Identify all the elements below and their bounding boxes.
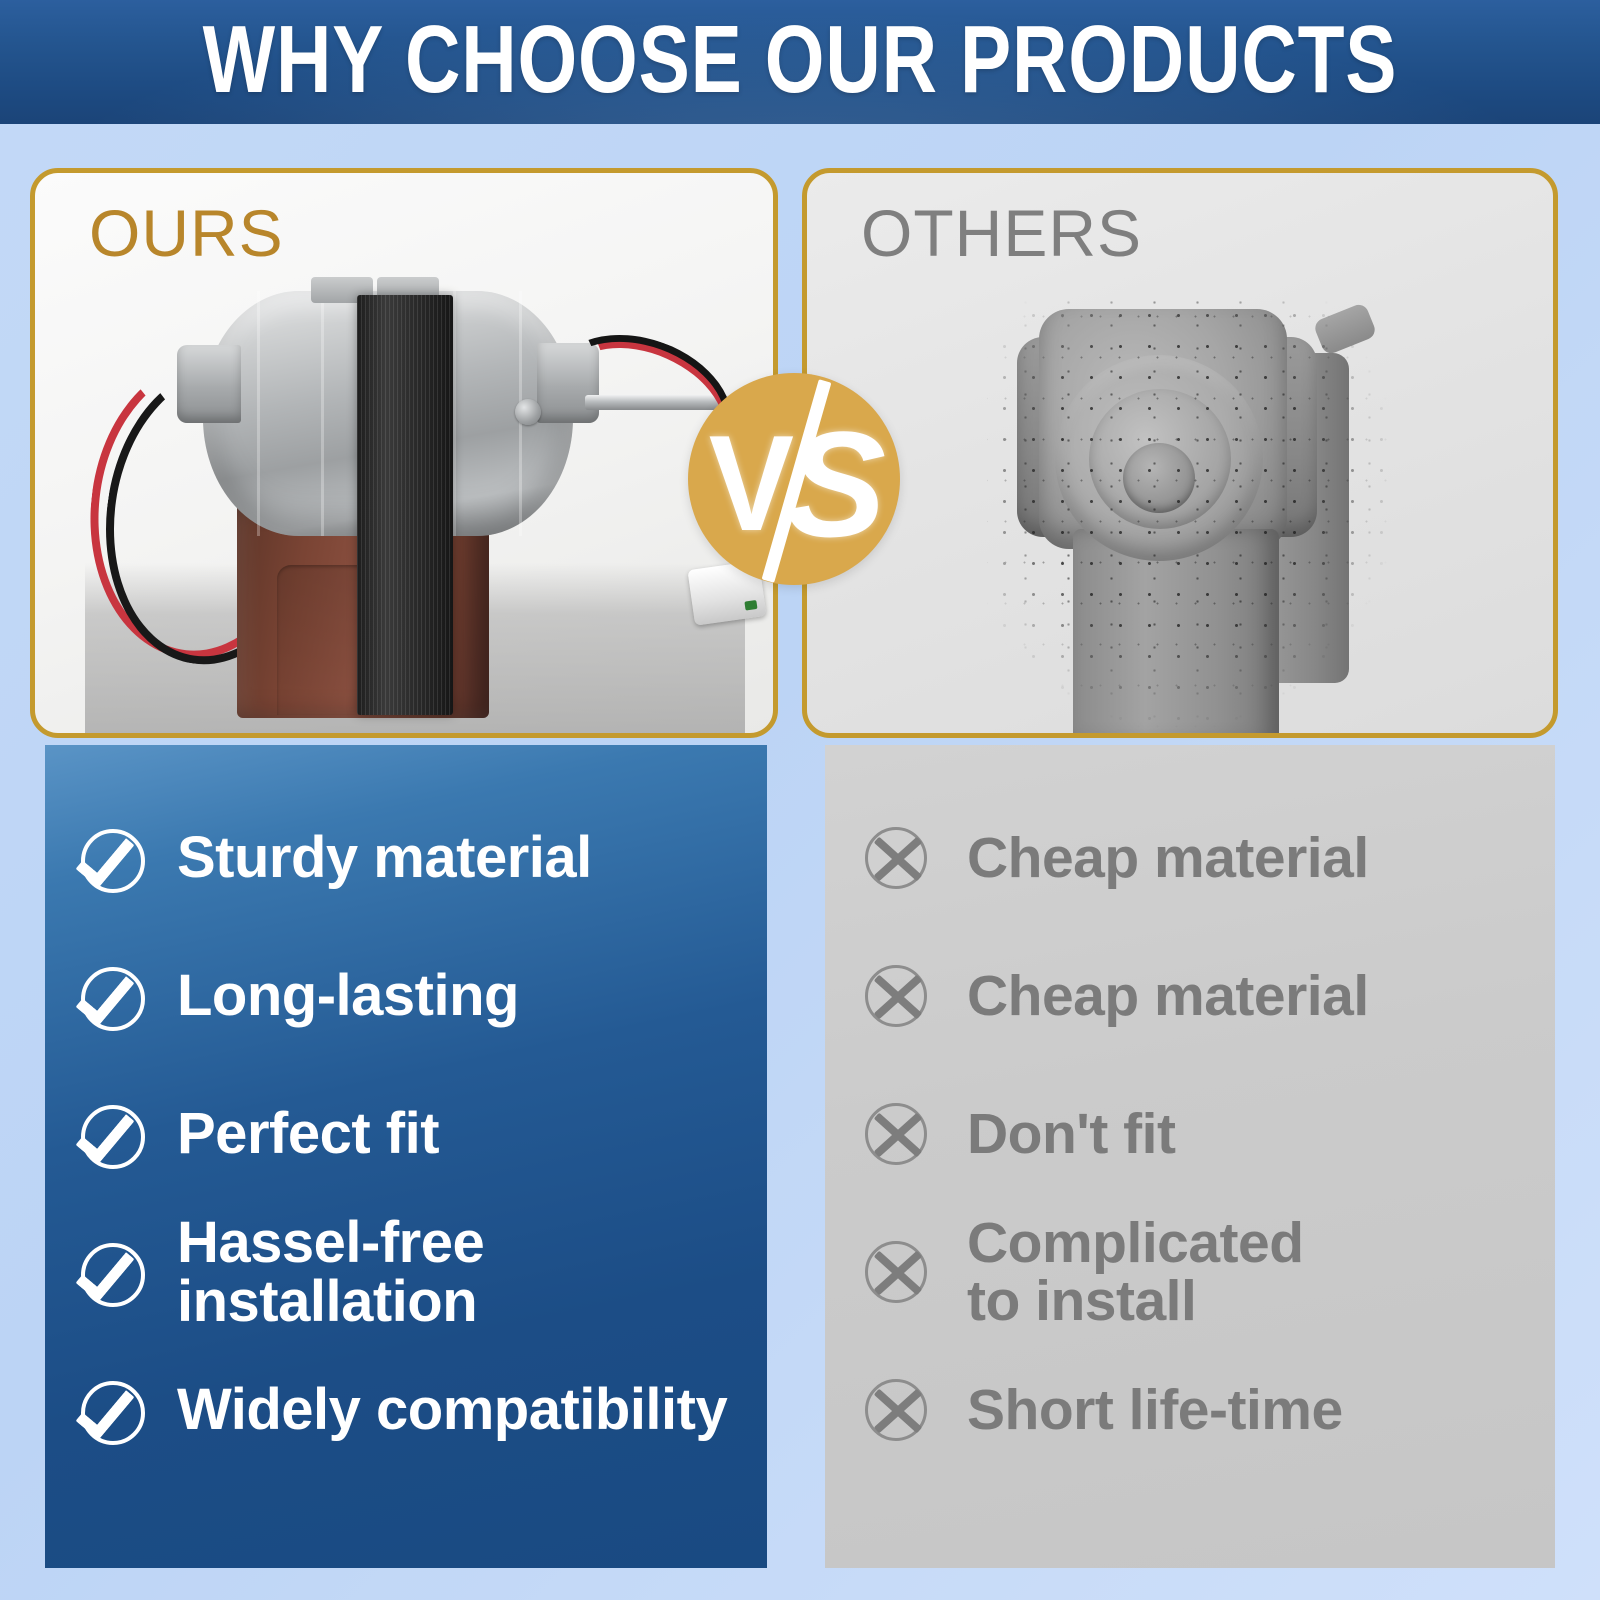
x-circle-icon — [859, 821, 933, 895]
list-item: Perfect fit — [45, 1065, 767, 1203]
header-banner: WHY CHOOSE OUR PRODUCTS — [0, 0, 1600, 124]
x-circle-icon — [859, 1235, 933, 1309]
x-circle-icon — [859, 959, 933, 1033]
drawback-label: Complicated to install — [967, 1214, 1304, 1330]
drawback-label: Short life-time — [967, 1381, 1343, 1439]
ours-label: OURS — [89, 195, 284, 271]
vs-badge: V S — [688, 373, 900, 585]
others-product-image — [987, 293, 1417, 738]
check-circle-icon — [77, 1373, 151, 1447]
feature-label: Sturdy material — [177, 828, 592, 887]
list-item: Complicated to install — [825, 1203, 1555, 1341]
check-circle-icon — [77, 821, 151, 895]
drawback-label: Cheap material — [967, 967, 1369, 1025]
others-label: OTHERS — [861, 195, 1142, 271]
page-title: WHY CHOOSE OUR PRODUCTS — [160, 5, 1440, 115]
ours-feature-panel: Sturdy material Long-lasting Perfect fit… — [45, 745, 767, 1568]
motor-hub — [1123, 443, 1195, 513]
feature-label: Widely compatibility — [177, 1380, 727, 1439]
feature-label: Perfect fit — [177, 1104, 439, 1163]
list-item: Hassel-free installation — [45, 1203, 767, 1341]
list-item: Cheap material — [825, 927, 1555, 1065]
others-photo-card: OTHERS — [802, 168, 1558, 738]
list-item: Short life-time — [825, 1341, 1555, 1479]
ours-photo-card: OURS — [30, 168, 778, 738]
motor-endbell-left — [177, 345, 241, 423]
list-item: Don't fit — [825, 1065, 1555, 1203]
list-item: Widely compatibility — [45, 1341, 767, 1479]
ours-product-image — [85, 273, 745, 733]
motor-coil-strap — [357, 295, 453, 715]
feature-label: Hassel-free installation — [177, 1213, 484, 1331]
infographic-page: WHY CHOOSE OUR PRODUCTS OURS — [0, 0, 1600, 1600]
list-item: Sturdy material — [45, 789, 767, 927]
motor-bolt — [515, 399, 541, 425]
others-feature-panel: Cheap material Cheap material Don't fit … — [825, 745, 1555, 1568]
x-circle-icon — [859, 1373, 933, 1447]
drawback-label: Don't fit — [967, 1105, 1175, 1163]
check-circle-icon — [77, 1097, 151, 1171]
motor-tab — [1312, 302, 1377, 356]
check-circle-icon — [77, 959, 151, 1033]
feature-label: Long-lasting — [177, 966, 519, 1025]
x-circle-icon — [859, 1097, 933, 1171]
list-item: Long-lasting — [45, 927, 767, 1065]
motor-stem — [1073, 529, 1279, 738]
list-item: Cheap material — [825, 789, 1555, 927]
check-circle-icon — [77, 1235, 151, 1309]
drawback-label: Cheap material — [967, 829, 1369, 887]
